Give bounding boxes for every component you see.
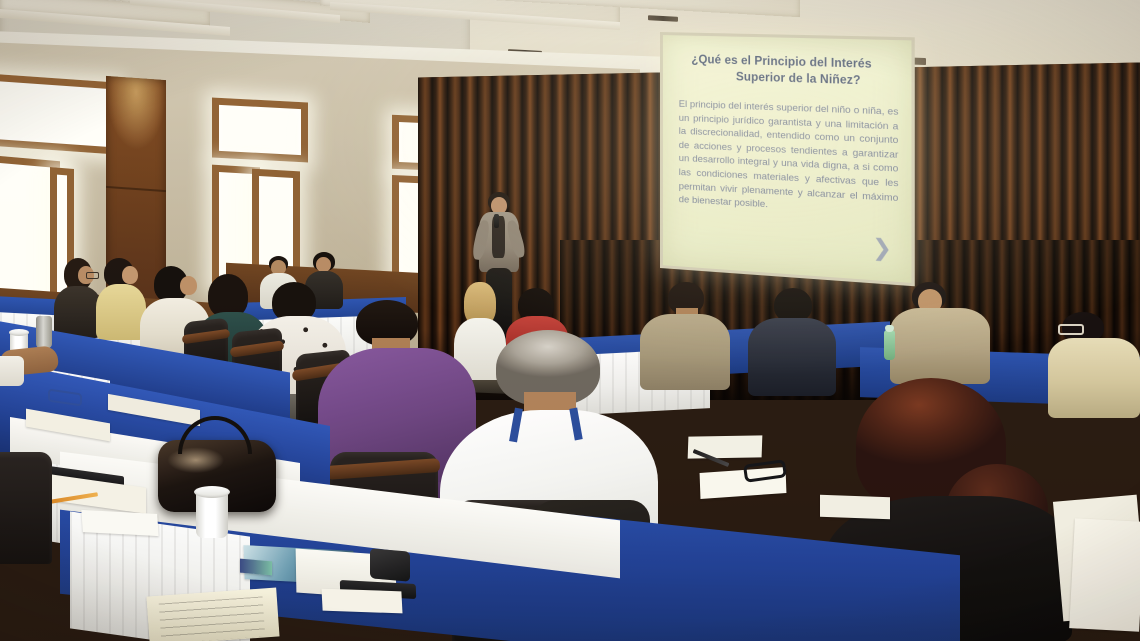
attendee-a2-torso — [96, 284, 146, 340]
chair-far-left — [0, 452, 52, 564]
papers-right-table — [820, 495, 890, 519]
napkin-center — [321, 589, 402, 614]
foam-cup-foreground — [196, 492, 228, 538]
attendee-a11-hair — [774, 288, 812, 322]
attendee-a12-torso — [890, 308, 990, 384]
slide-title-line-1: ¿Qué es el Principio del Interés — [691, 54, 871, 71]
foam-cup-foreground-rim — [194, 486, 230, 498]
window-upper-left — [0, 73, 118, 154]
water-bottle-cap — [885, 325, 894, 332]
foam-cup-back-left-rim — [9, 329, 29, 336]
brochure-label — [240, 559, 272, 576]
phone-black — [370, 548, 410, 581]
slide-surface: ¿Qué es el Principio del Interés Superio… — [663, 35, 912, 283]
attendee-a13-glasses — [1058, 324, 1084, 335]
window-upper-center — [212, 97, 308, 162]
attendee-a12 — [890, 282, 990, 382]
projection-screen: ¿Qué es el Principio del Interés Superio… — [660, 32, 915, 286]
folder-lines — [159, 596, 266, 641]
papers-far-right-2 — [1069, 518, 1140, 632]
slide-body-text: El principio del interés superior del ni… — [679, 98, 899, 220]
attendee-a11-torso — [748, 318, 836, 396]
attendee-a11 — [748, 288, 836, 392]
microphone — [494, 214, 499, 228]
conference-room-photo: ¿Qué es el Principio del Interés Superio… — [0, 0, 1140, 641]
thermos-back-left — [36, 316, 52, 348]
water-bottle — [884, 330, 895, 360]
attendee-a1-torso — [54, 286, 102, 338]
chevron-right-icon: ❯ — [872, 236, 892, 260]
attendee-a16-head — [316, 257, 331, 272]
slide-title: ¿Qué es el Principio del Interés Superio… — [663, 51, 903, 91]
attendee-a2-head — [122, 266, 138, 284]
attendee-sleeve-left — [0, 356, 24, 386]
attendee-a3-head — [180, 276, 197, 295]
napkin-foreground — [81, 510, 158, 536]
